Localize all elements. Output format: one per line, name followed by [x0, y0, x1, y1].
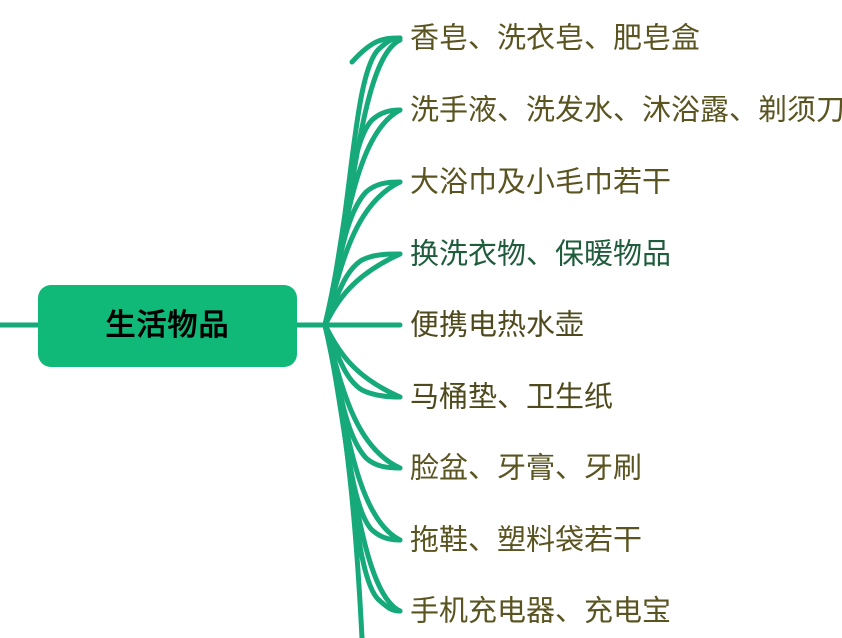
mind-map-canvas: 生活物品 香皂、洗衣皂、肥皂盒 洗手液、洗发水、沐浴露、剃须刀 大浴巾及小毛巾若… [0, 0, 842, 638]
branch-label-4[interactable]: 换洗衣物、保暖物品 [410, 240, 671, 269]
branch-label-7[interactable]: 脸盆、牙膏、牙刷 [410, 454, 642, 483]
branch-label-3[interactable]: 大浴巾及小毛巾若干 [410, 168, 671, 197]
branch-label-1[interactable]: 香皂、洗衣皂、肥皂盒 [410, 24, 700, 53]
branch-label-9[interactable]: 手机充电器、充电宝 [410, 597, 671, 626]
branch-label-5[interactable]: 便携电热水壶 [410, 311, 584, 340]
branch-label-8[interactable]: 拖鞋、塑料袋若干 [410, 526, 642, 555]
branch-label-6[interactable]: 马桶垫、卫生纸 [410, 383, 613, 412]
central-node-label: 生活物品 [106, 311, 230, 341]
branch-label-2[interactable]: 洗手液、洗发水、沐浴露、剃须刀 [410, 96, 842, 125]
central-node[interactable]: 生活物品 [38, 285, 297, 367]
